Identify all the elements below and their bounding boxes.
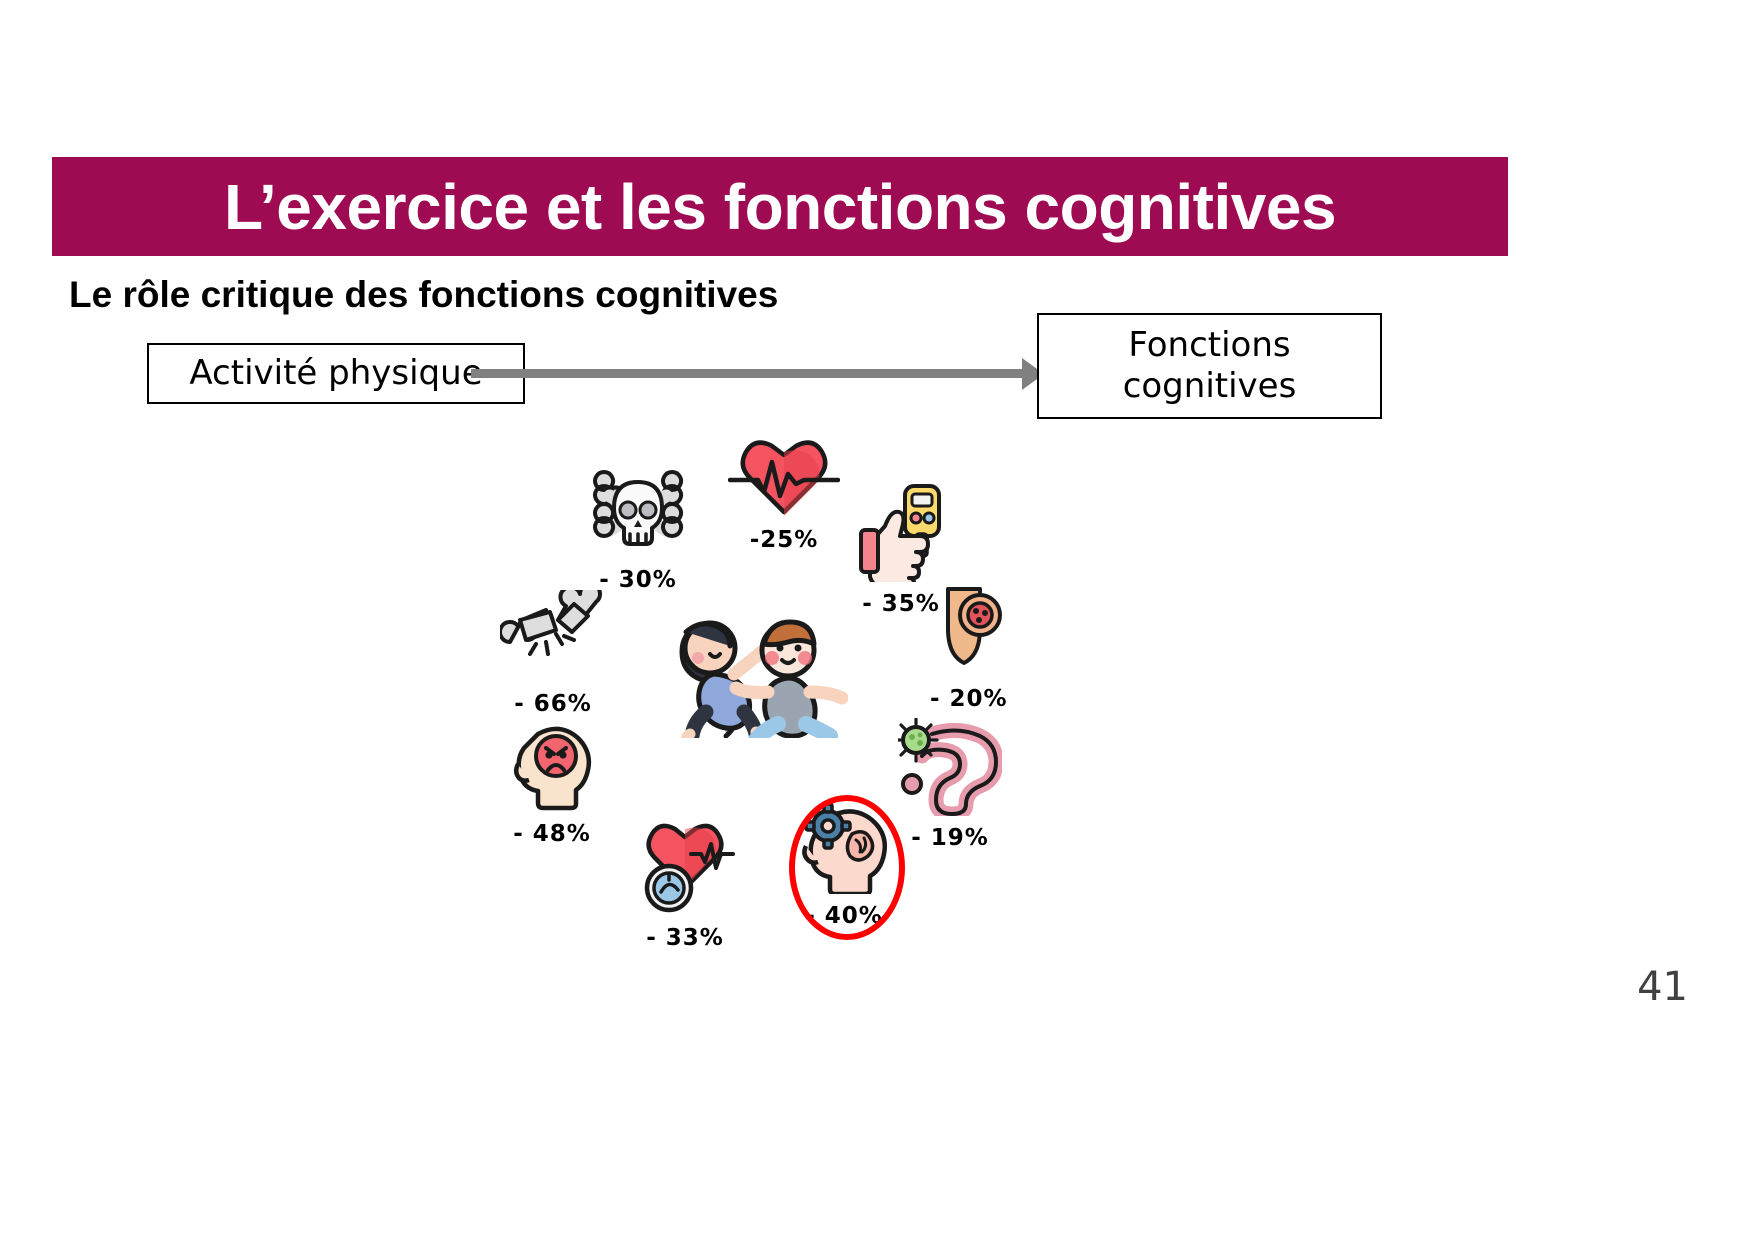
intestine-bacteria-icon [898,718,1002,821]
flow-box-physical-activity-label: Activité physique [189,353,482,394]
slide-subtitle: Le rôle critique des fonctions cognitive… [69,274,778,316]
slide-title-bar: L’exercice et les fonctions cognitives [52,157,1508,256]
cluster-node-cardiovascular: -25% [728,440,840,553]
cluster-node-label: -25% [750,527,819,553]
cluster-node-breast-cancer: - 20% [930,585,1008,712]
arrow-right-icon [1022,358,1044,390]
flow-box-cognitive-functions: Fonctions cognitives [1037,313,1382,419]
cluster-node-colon-cancer: - 19% [898,718,1002,851]
broken-bone-icon [500,590,606,687]
cluster-node-label: - 48% [513,821,591,847]
flow-box-cognitive-functions-label-line2: cognitives [1123,366,1297,407]
flow-box-physical-activity: Activité physique [147,343,525,404]
flow-arrow-shaft [471,369,1026,378]
cluster-node-mortality: - 30% [590,470,686,593]
cluster-node-label: - 33% [646,925,724,951]
sad-face-head-icon [510,720,594,817]
two-people-exercising-icon [648,608,848,743]
glucometer-hand-icon [855,482,947,587]
skull-crossbones-icon [590,470,686,563]
cluster-node-label: - 66% [514,691,592,717]
heart-ecg-icon [728,440,840,523]
highlight-ellipse [789,795,905,940]
risk-reduction-cluster: - 30% -25% [460,430,1080,960]
cluster-node-label: - 35% [862,591,940,617]
cluster-node-label: - 20% [930,686,1008,712]
breast-cancer-icon [936,585,1002,682]
cluster-node-label: - 30% [599,567,677,593]
cluster-center [648,608,848,743]
heart-cholesterol-icon [635,820,735,921]
page-title: L’exercice et les fonctions cognitives [224,175,1336,239]
cluster-node-label: - 19% [911,825,989,851]
page-number: 41 [1637,964,1688,1010]
cluster-node-fracture: - 66% [500,590,606,717]
flow-box-cognitive-functions-label-line1: Fonctions [1123,325,1297,366]
slide-canvas: L’exercice et les fonctions cognitives L… [0,0,1754,1241]
cluster-node-depression: - 48% [510,720,594,847]
cluster-node-cholesterol: - 33% [635,820,735,951]
